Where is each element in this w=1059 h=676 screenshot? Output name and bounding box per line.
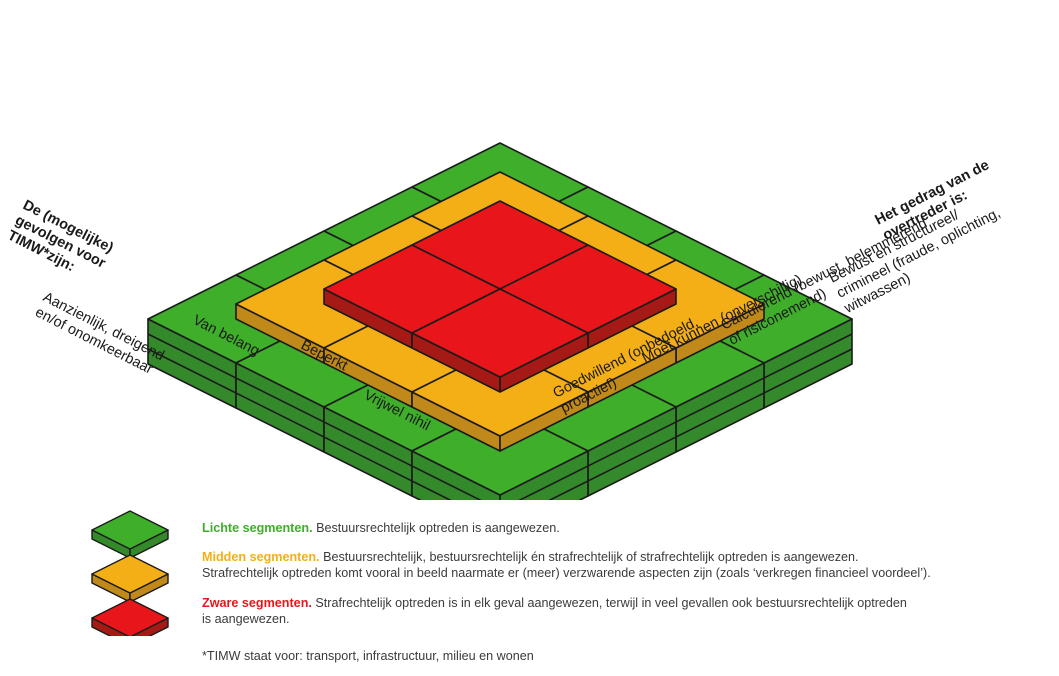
legend-body-mid-1: Bestuursrechtelijk, bestuursrechtelijk é…	[323, 550, 859, 564]
legend-row-mid: Midden segmenten. Bestuursrechtelijk, be…	[202, 549, 1040, 582]
green-tile-icon	[92, 511, 168, 558]
legend-body-light: Bestuursrechtelijk optreden is aangeweze…	[316, 521, 560, 535]
legend-tiles-svg	[80, 508, 180, 636]
orange-tile-icon	[92, 555, 168, 602]
legend-body-heavy-1: Strafrechtelijk optreden is in elk geval…	[315, 596, 907, 610]
footnote-timw: *TIMW staat voor: transport, infrastruct…	[202, 648, 1040, 665]
legend-icons	[80, 508, 180, 636]
legend-body-mid-2: Strafrechtelijk optreden komt vooral in …	[202, 566, 931, 580]
isometric-matrix-svg: De (mogelijke)gevolgen voorTIMW*zijn:Aan…	[0, 0, 1059, 500]
legend-rows: Lichte segmenten. Bestuursrechtelijk opt…	[202, 508, 1040, 665]
red-tile-icon	[92, 599, 168, 636]
legend-row-light: Lichte segmenten. Bestuursrechtelijk opt…	[202, 520, 1040, 537]
left-axis-title: De (mogelijke)gevolgen voorTIMW*zijn:	[5, 197, 116, 287]
legend-lead-mid: Midden segmenten.	[202, 550, 320, 564]
legend-row-heavy: Zware segmenten. Strafrechtelijk optrede…	[202, 595, 1040, 628]
legend-body-heavy-2: is aangewezen.	[202, 612, 290, 626]
legend-lead-heavy: Zware segmenten.	[202, 596, 312, 610]
left-axis-label-0: Aanzienlijk, dreigenden/of onomkeerbaar	[32, 289, 166, 379]
legend-lead-light: Lichte segmenten.	[202, 521, 313, 535]
legend: Lichte segmenten. Bestuursrechtelijk opt…	[80, 508, 1040, 665]
